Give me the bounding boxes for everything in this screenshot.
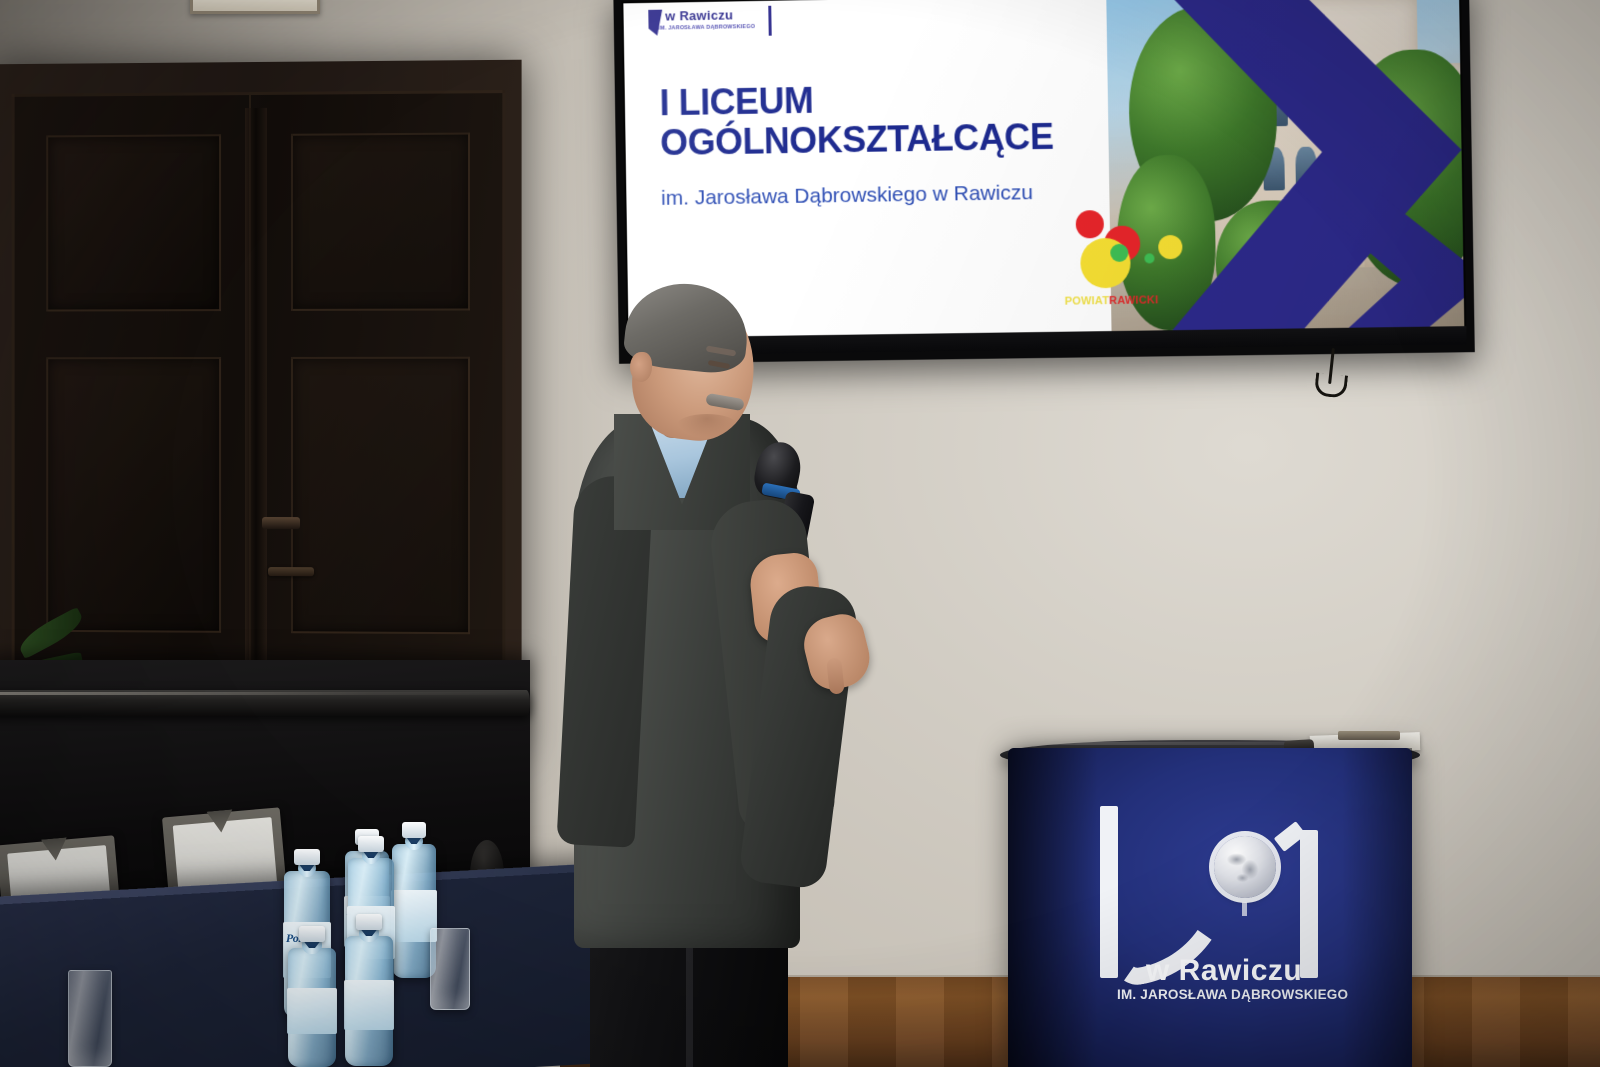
podium-clipboard-clip[interactable] bbox=[1338, 731, 1400, 740]
bottle-cap bbox=[358, 836, 384, 852]
plant-leaf bbox=[15, 607, 87, 659]
speaker-ear bbox=[630, 352, 652, 382]
podium-shadow-right bbox=[1342, 748, 1412, 1067]
drinking-glass[interactable] bbox=[68, 970, 112, 1067]
podium-logo-line-2: IM. JAROSŁAWA DĄBROWSKIEGO bbox=[1117, 987, 1348, 1002]
bottle-cap bbox=[294, 849, 320, 865]
globe-icon bbox=[1214, 836, 1276, 898]
door-panel bbox=[46, 135, 221, 312]
drinking-glass[interactable] bbox=[430, 928, 470, 1010]
logo-numeral-one-icon bbox=[1300, 830, 1318, 978]
bottle-cap bbox=[299, 926, 326, 942]
door-mullion bbox=[245, 108, 267, 751]
water-bottle[interactable] bbox=[345, 918, 393, 1066]
water-bottle[interactable] bbox=[288, 930, 336, 1067]
door-panel bbox=[291, 133, 470, 311]
bottle-label bbox=[287, 988, 337, 1035]
door-panel bbox=[291, 357, 470, 634]
speaker-podium: w Rawiczu IM. JAROSŁAWA DĄBROWSKIEGO bbox=[1008, 748, 1412, 1067]
door-handle[interactable] bbox=[268, 567, 314, 576]
speaker-person bbox=[556, 286, 896, 1067]
wall-plaque bbox=[190, 0, 320, 14]
bottle-label bbox=[344, 980, 394, 1030]
bottle-cap bbox=[402, 822, 427, 838]
bottle-cap bbox=[356, 914, 383, 930]
piano-lid bbox=[0, 690, 530, 716]
door-leaf-right bbox=[263, 93, 499, 753]
podium-shadow-left bbox=[1008, 748, 1098, 1067]
podium-logo-line-1: w Rawiczu bbox=[1146, 954, 1302, 988]
podium-school-logo: w Rawiczu IM. JAROSŁAWA DĄBROWSKIEGO bbox=[1092, 806, 1342, 1006]
conference-hall-photo: Polaris Polaris bbox=[0, 0, 1600, 1067]
door-panel bbox=[46, 357, 221, 632]
globe-stem-icon bbox=[1242, 902, 1247, 916]
speaker-chin-shadow bbox=[676, 414, 738, 438]
door-lock[interactable] bbox=[262, 517, 300, 529]
